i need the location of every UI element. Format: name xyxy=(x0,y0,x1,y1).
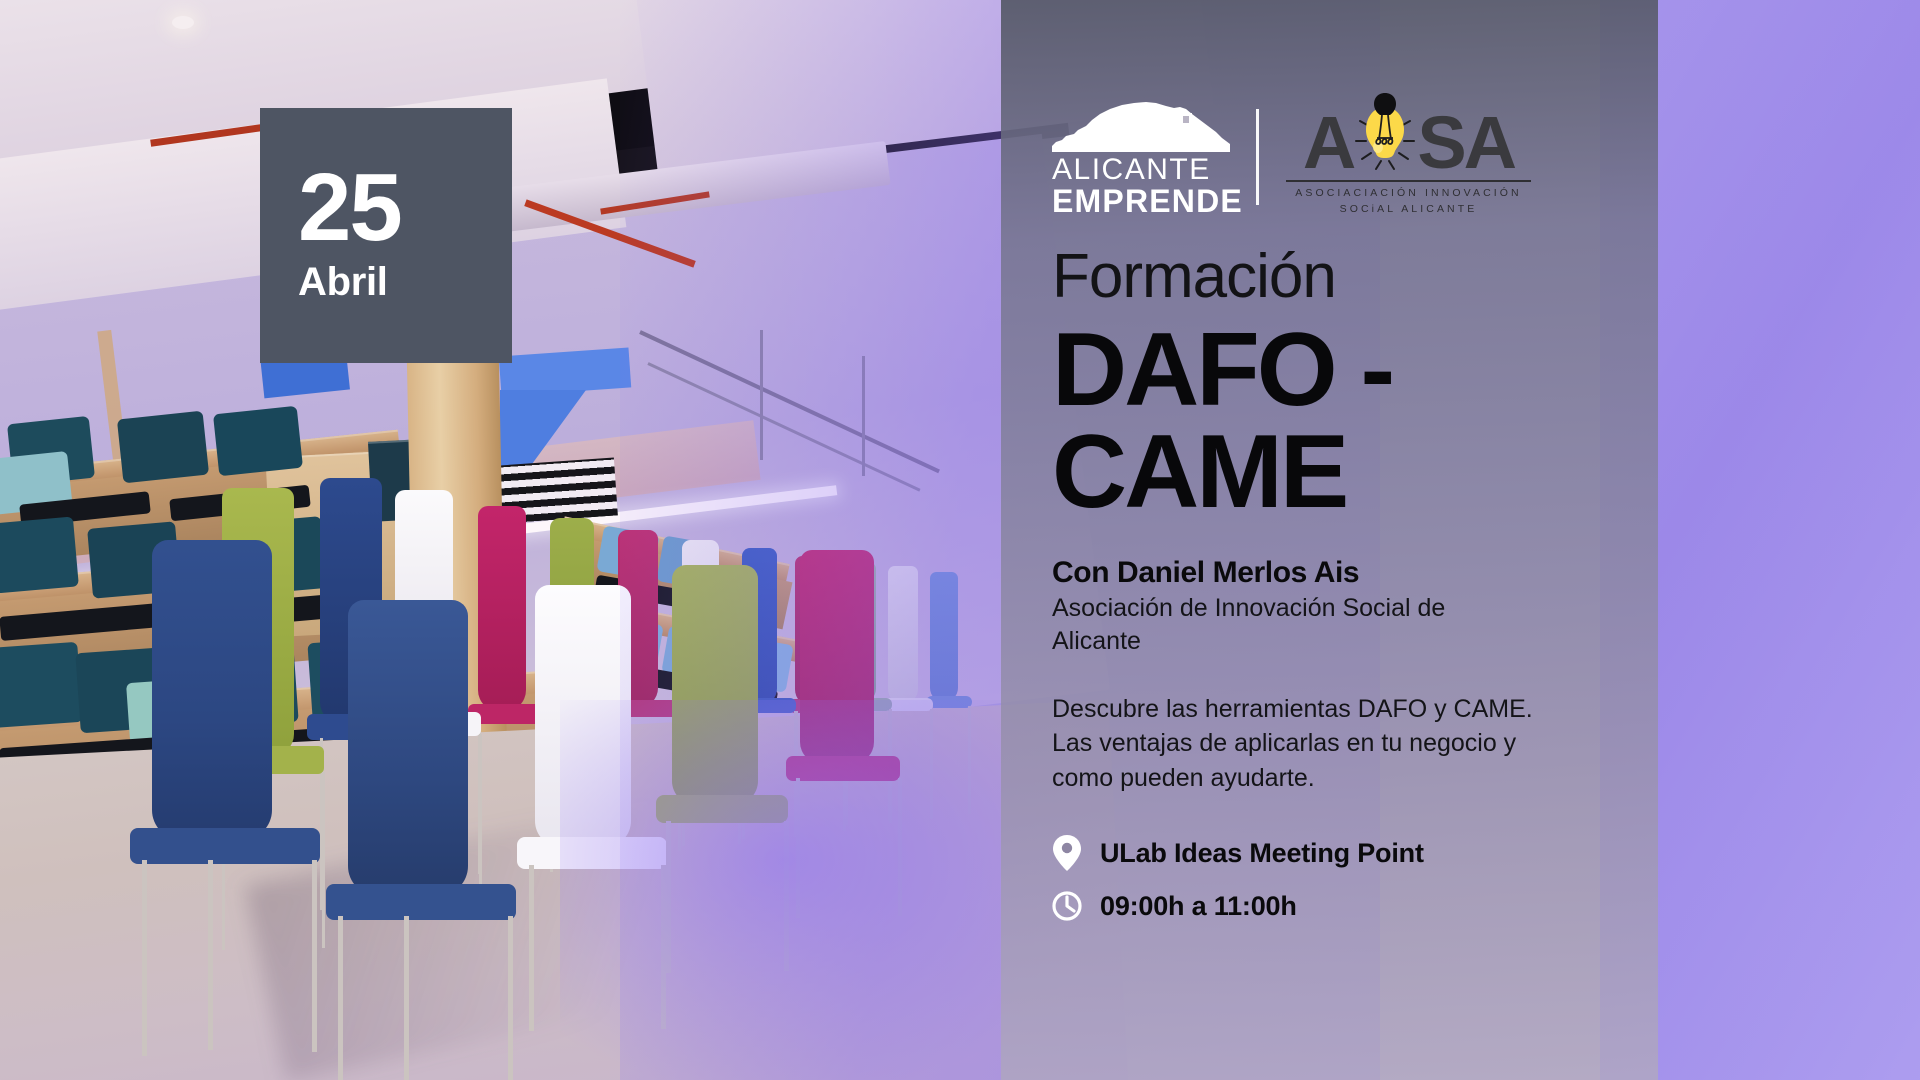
event-speaker: Con Daniel Merlos Ais xyxy=(1052,556,1598,590)
lightbulb-icon xyxy=(1354,93,1416,175)
cushion xyxy=(117,411,209,484)
ceiling-spotlight xyxy=(172,16,194,29)
logo-ae-line1: ALICANTE xyxy=(1052,155,1232,185)
logo-divider xyxy=(1256,109,1259,205)
event-kicker: Formación xyxy=(1052,244,1598,311)
date-day: 25 xyxy=(298,162,401,254)
logo-alicante-emprende: ALICANTE EMPRENDE xyxy=(1052,96,1232,219)
event-poster: Eventos para emprendedores y startups en… xyxy=(0,0,1920,1080)
date-month: Abril xyxy=(298,255,388,309)
event-time-text: 09:00h a 11:00h xyxy=(1100,891,1297,922)
alicante-skyline-icon xyxy=(1052,96,1230,152)
logo-asa-letters-sa: SA xyxy=(1417,110,1514,175)
event-location-row: ULab Ideas Meeting Point xyxy=(1052,835,1598,871)
date-badge: 25 Abril xyxy=(260,108,512,363)
event-meta: ULab Ideas Meeting Point 09:00h a 11:00h xyxy=(1052,835,1598,924)
map-pin-icon xyxy=(1052,835,1082,871)
cushion xyxy=(0,642,83,728)
logo-asa-subtitle-2: SOCiAL ALICANTE xyxy=(1286,202,1531,217)
logo-asa-subtitle-1: ASOCIACIACIÓN INNOVACIÓN xyxy=(1286,186,1531,201)
info-panel: ALICANTE EMPRENDE A xyxy=(1001,0,1658,1080)
event-time-row: 09:00h a 11:00h xyxy=(1052,888,1598,924)
cushion xyxy=(213,406,303,476)
event-title-line2: CAME xyxy=(1052,415,1598,529)
event-title-line1: DAFO - xyxy=(1052,313,1598,427)
event-speaker-org: Asociación de Innovación Social de Alica… xyxy=(1052,592,1522,658)
event-location-text: ULab Ideas Meeting Point xyxy=(1100,838,1424,869)
clock-icon xyxy=(1052,888,1082,924)
logo-row: ALICANTE EMPRENDE A xyxy=(1052,96,1598,218)
logo-asa: A xyxy=(1286,97,1531,216)
logo-asa-letter-a: A xyxy=(1303,110,1353,175)
event-description: Descubre las herramientas DAFO y CAME. L… xyxy=(1052,692,1572,796)
cushion xyxy=(0,516,79,593)
logo-ae-line2: EMPRENDE xyxy=(1052,185,1232,219)
